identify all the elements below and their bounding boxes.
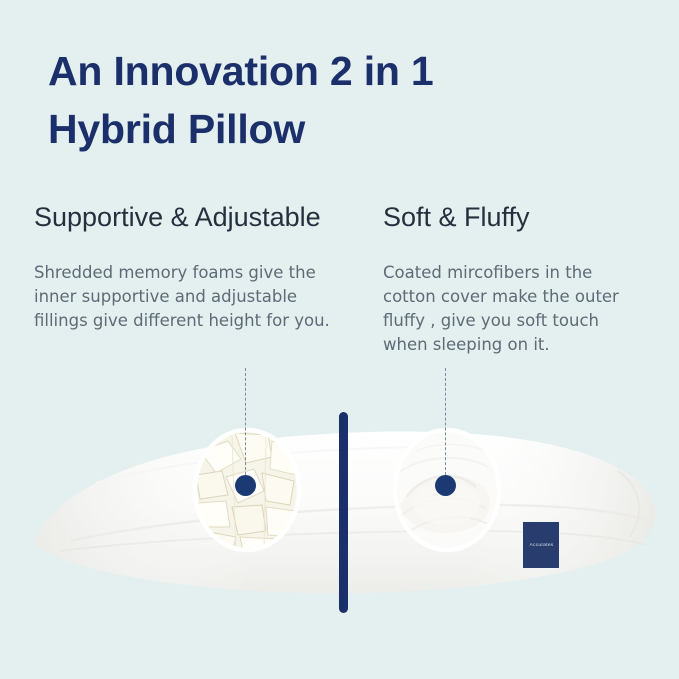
center-divider-bar xyxy=(339,412,348,613)
feature-heading-supportive: Supportive & Adjustable xyxy=(34,202,364,233)
leader-line-right xyxy=(445,368,446,485)
anchor-dot-right xyxy=(435,475,456,496)
brand-tag-label: Accurates xyxy=(529,542,553,548)
leader-line-left xyxy=(245,368,246,485)
anchor-dot-left xyxy=(235,475,256,496)
feature-column-supportive: Supportive & Adjustable Shredded memory … xyxy=(34,202,364,333)
feature-body-soft: Coated mircofibers in the cotton cover m… xyxy=(383,261,655,357)
pillow-feature-infographic: An Innovation 2 in 1 Hybrid Pillow Suppo… xyxy=(0,0,679,679)
feature-body-supportive: Shredded memory foams give the inner sup… xyxy=(34,261,364,333)
brand-tag: Accurates xyxy=(522,521,560,569)
feature-column-soft: Soft & Fluffy Coated mircofibers in the … xyxy=(383,202,655,357)
page-title: An Innovation 2 in 1 Hybrid Pillow xyxy=(48,42,628,158)
feature-heading-soft: Soft & Fluffy xyxy=(383,202,655,233)
